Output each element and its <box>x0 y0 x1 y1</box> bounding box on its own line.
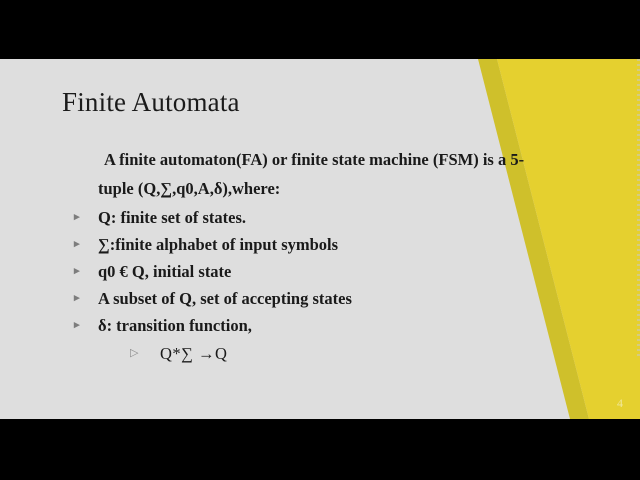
list-item: ▸ ∑:finite alphabet of input symbols <box>68 231 538 258</box>
triangle-bullet-icon: ▸ <box>74 258 80 285</box>
presentation-slide: Finite Automata A finite automaton(FA) o… <box>0 59 640 419</box>
triangle-bullet-icon: ▸ <box>74 204 80 231</box>
triangle-bullet-icon: ▸ <box>74 312 80 339</box>
letterbox-bottom-bar <box>0 419 640 480</box>
list-item-label: ∑:finite alphabet of input symbols <box>98 235 338 254</box>
letterbox-top-bar <box>0 0 640 59</box>
list-item: ▸ q0 € Q, initial state <box>68 258 538 285</box>
slide-title: Finite Automata <box>62 87 240 118</box>
sub-list-item: ▷ Q*∑ →Q <box>68 340 538 367</box>
lead-paragraph-line-2: tuple (Q,∑,q0,A,δ),where: <box>68 176 538 201</box>
list-item: ▸ A subset of Q, set of accepting states <box>68 285 538 312</box>
triangle-bullet-icon: ▸ <box>74 285 80 312</box>
sub-list-item-label: Q*∑ →Q <box>160 344 227 363</box>
lead-text-line-1: A finite automaton(FA) or finite state m… <box>104 150 524 169</box>
video-viewport: Finite Automata A finite automaton(FA) o… <box>0 0 640 480</box>
lead-paragraph-line-1: A finite automaton(FA) or finite state m… <box>68 147 538 172</box>
bullet-list: ▸ Q: finite set of states. ▸ ∑:finite al… <box>68 204 538 339</box>
list-item-label: q0 € Q, initial state <box>98 262 231 281</box>
list-item-label: A subset of Q, set of accepting states <box>98 289 352 308</box>
list-item: ▸ δ: transition function, <box>68 312 538 339</box>
list-item-label: δ: transition function, <box>98 316 252 335</box>
triangle-bullet-icon: ▸ <box>74 231 80 258</box>
list-item: ▸ Q: finite set of states. <box>68 204 538 231</box>
list-item-label: Q: finite set of states. <box>98 208 246 227</box>
hollow-triangle-bullet-icon: ▷ <box>130 340 138 367</box>
slide-body: A finite automaton(FA) or finite state m… <box>68 147 538 367</box>
slide-number: 4 <box>617 396 623 411</box>
